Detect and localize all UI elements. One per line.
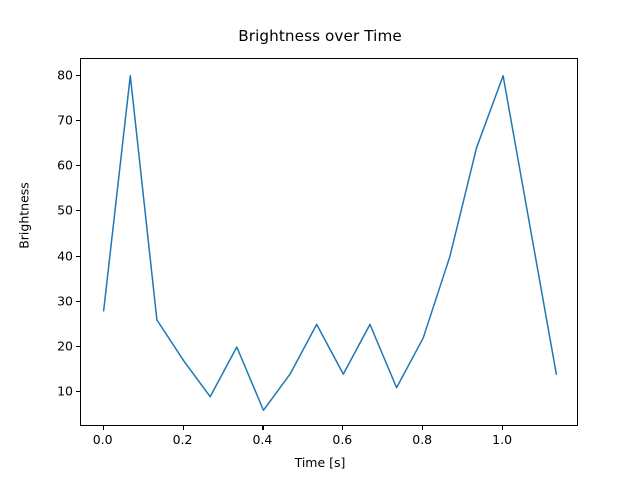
chart-title: Brightness over Time (0, 27, 640, 45)
x-tick-mark (183, 426, 184, 430)
x-tick-label: 0.0 (93, 432, 113, 447)
y-tick-label: 40 (57, 248, 73, 263)
x-tick-mark (262, 426, 263, 430)
y-tick-label: 30 (57, 293, 73, 308)
plot-area (80, 58, 578, 426)
x-tick-label: 0.6 (332, 432, 352, 447)
x-tick-label: 0.4 (252, 432, 272, 447)
y-tick-label: 60 (57, 158, 73, 173)
x-tick-label: 1.0 (492, 432, 512, 447)
data-line-svg (81, 59, 577, 425)
chart-figure: Brightness over Time Brightness 10203040… (0, 0, 640, 480)
x-tick-label: 0.8 (412, 432, 432, 447)
y-tick-label: 50 (57, 203, 73, 218)
y-tick-label: 10 (57, 384, 73, 399)
x-tick-mark (342, 426, 343, 430)
x-tick-label: 0.2 (173, 432, 193, 447)
y-tick-label: 70 (57, 112, 73, 127)
y-axis-label: Brightness (17, 156, 32, 276)
x-axis-label: Time [s] (0, 455, 640, 470)
x-tick-mark (103, 426, 104, 430)
y-tick-label: 20 (57, 338, 73, 353)
data-line-brightness (104, 76, 557, 411)
y-tick-label: 80 (57, 67, 73, 82)
x-tick-mark (422, 426, 423, 430)
y-axis-tick-labels: 1020304050607080 (40, 0, 73, 480)
x-tick-mark (502, 426, 503, 430)
